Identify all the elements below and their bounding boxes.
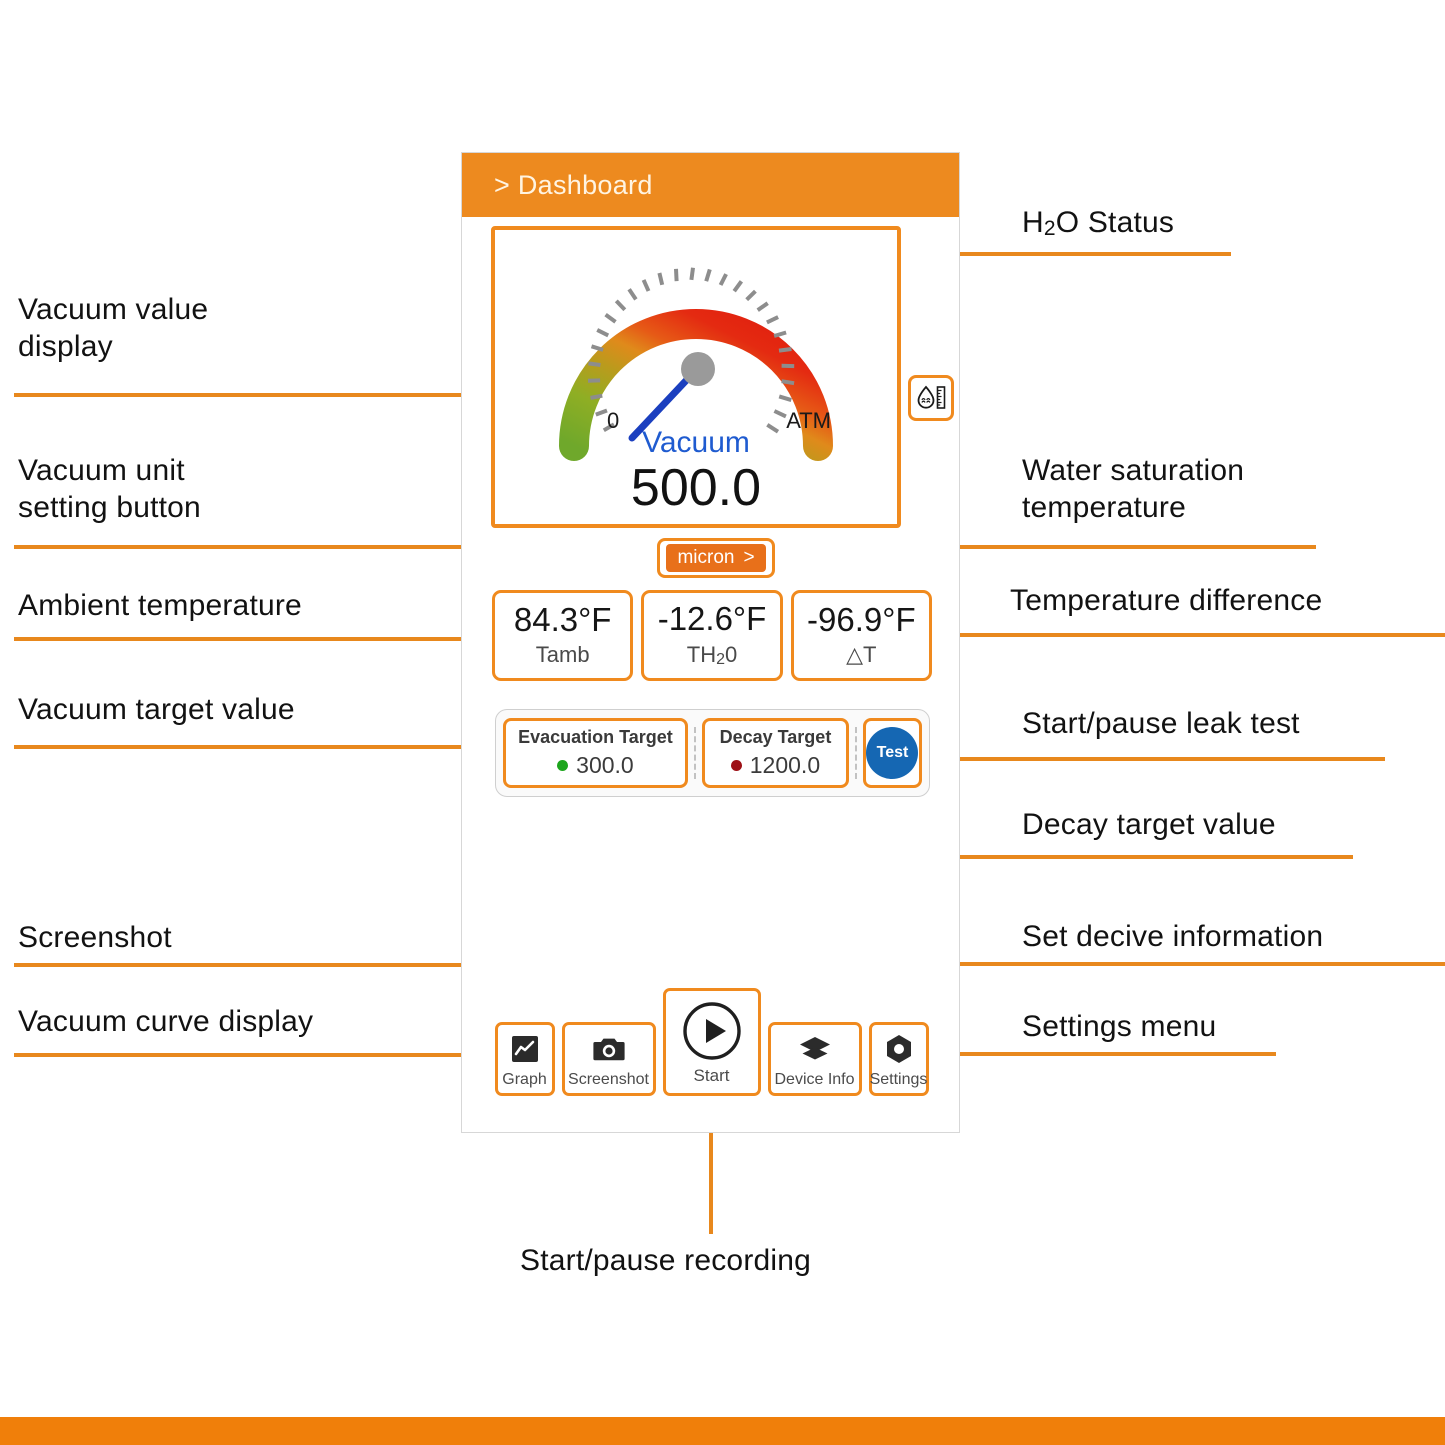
temp-value: 84.3°F — [514, 603, 612, 638]
annotation-line-1: Start/pause recording — [520, 1243, 1020, 1280]
annotation-line-2: setting button — [18, 490, 438, 527]
annotation-start-pause-leak-test: Start/pause leak test — [1022, 706, 1442, 743]
leak-test-cell[interactable]: Test — [863, 718, 922, 788]
temp-key: △T — [846, 642, 876, 668]
callout-rule-settings-menu — [946, 1052, 1276, 1056]
status-dot-green — [557, 760, 568, 771]
camera-icon — [593, 1036, 625, 1062]
annotation-line-1: Decay target value — [1022, 807, 1442, 844]
annotation-decay-target-value: Decay target value — [1022, 807, 1442, 844]
gauge-hub — [681, 352, 715, 386]
targets-row: Evacuation Target 300.0 Decay Target 120… — [495, 709, 930, 797]
ambient-temperature-cell[interactable]: 84.3°F Tamb — [492, 590, 633, 681]
toolbar-item-start[interactable]: Start — [663, 988, 761, 1096]
temp-value: -12.6°F — [658, 602, 767, 637]
test-button[interactable]: Test — [866, 727, 918, 779]
evacuation-target-value-row: 300.0 — [557, 752, 634, 779]
divider — [855, 727, 857, 779]
toolbar-label: Device Info — [774, 1071, 854, 1089]
toolbar-label: Screenshot — [568, 1071, 649, 1089]
evacuation-target-cell[interactable]: Evacuation Target 300.0 — [503, 718, 688, 788]
unit-button-inner[interactable]: micron > — [666, 544, 766, 572]
annotation-line-1: Vacuum curve display — [18, 1004, 488, 1041]
device-frame: > Dashboard — [461, 152, 960, 1133]
temp-value: -96.9°F — [807, 603, 916, 638]
toolbar-label: Settings — [870, 1071, 928, 1089]
decay-target-value: 1200.0 — [750, 752, 820, 779]
annotation-water-saturation-temperature: Water saturation temperature — [1022, 453, 1422, 526]
temperature-difference-cell[interactable]: -96.9°F △T — [791, 590, 932, 681]
callout-rule-leak-test — [928, 757, 1385, 761]
annotation-temperature-difference: Temperature difference — [1010, 583, 1445, 620]
annotation-line-1: Temperature difference — [1010, 583, 1445, 620]
decay-target-cell[interactable]: Decay Target 1200.0 — [702, 718, 849, 788]
callout-rule-vacuum-curve — [14, 1053, 490, 1057]
icon-slot — [885, 1031, 913, 1067]
temp-key-sub: 2 — [716, 651, 725, 668]
annotation-screenshot: Screenshot — [18, 920, 488, 957]
annotation-settings-menu: Settings menu — [1022, 1009, 1442, 1046]
breadcrumb[interactable]: > Dashboard — [494, 170, 653, 201]
decay-target-title: Decay Target — [720, 727, 832, 748]
annotation-line-1: Vacuum target value — [18, 692, 488, 729]
toolbar-item-graph[interactable]: Graph — [495, 1022, 555, 1096]
icon-slot — [799, 1031, 831, 1067]
play-circle-icon — [681, 1000, 743, 1062]
annotation-start-pause-recording: Start/pause recording — [520, 1243, 1020, 1280]
annotation-line-1: Vacuum value — [18, 292, 438, 329]
annotation-ambient-temperature: Ambient temperature — [18, 588, 488, 625]
annotation-line-1: Settings menu — [1022, 1009, 1442, 1046]
unit-label: micron — [677, 547, 734, 569]
water-saturation-temperature-cell[interactable]: -12.6°F TH20 — [641, 590, 782, 681]
temp-key-tail: 0 — [725, 642, 737, 667]
subscript-2: 2 — [1044, 217, 1056, 240]
temp-key-main: TH — [687, 642, 716, 667]
decay-target-value-row: 1200.0 — [731, 752, 820, 779]
temperature-row: 84.3°F Tamb -12.6°F TH20 -96.9°F △T — [492, 590, 932, 681]
annotation-line-1: Water saturation — [1022, 453, 1422, 490]
temp-key: Tamb — [536, 642, 590, 668]
callout-rule-vacuum-target — [14, 745, 503, 749]
water-drop-thermometer-icon — [915, 384, 947, 412]
chevron-right-icon: > — [743, 547, 754, 569]
annotation-line-1: Screenshot — [18, 920, 488, 957]
annotation-vacuum-curve-display: Vacuum curve display — [18, 1004, 488, 1041]
annotation-vacuum-target-value: Vacuum target value — [18, 692, 488, 729]
icon-slot — [511, 1031, 539, 1067]
annotation-line-1: Set decive information — [1022, 919, 1445, 956]
callout-rule-temp-difference — [934, 633, 1445, 637]
temp-key: TH20 — [687, 642, 737, 669]
vacuum-value-readout: 500.0 — [495, 458, 897, 518]
brand-bar — [0, 1417, 1445, 1445]
layers-icon — [799, 1035, 831, 1063]
icon-slot — [593, 1031, 625, 1067]
icon-slot — [681, 1000, 743, 1062]
annotation-set-device-information: Set decive information — [1022, 919, 1445, 956]
toolbar-item-device-info[interactable]: Device Info — [768, 1022, 862, 1096]
annotation-line-2: temperature — [1022, 490, 1422, 527]
annotation-line-1: Vacuum unit — [18, 453, 438, 490]
toolbar-label: Start — [694, 1066, 730, 1086]
h2o-status-button[interactable] — [908, 375, 954, 421]
callout-rule-ambient-temp — [14, 637, 520, 641]
annotation-line-2: display — [18, 329, 438, 366]
page-root: Vacuum value display Vacuum unit setting… — [0, 0, 1445, 1445]
bottom-toolbar: Graph Screenshot — [480, 1000, 943, 1096]
annotation-h2o-status: H2O Status — [1022, 205, 1422, 242]
annotation-line-1: Ambient temperature — [18, 588, 488, 625]
divider — [694, 727, 696, 779]
annotation-line-1: Start/pause leak test — [1022, 706, 1442, 743]
callout-rule-vacuum-value — [14, 393, 481, 397]
annotation-vacuum-value-display: Vacuum value display — [18, 292, 438, 365]
toolbar-item-settings[interactable]: Settings — [869, 1022, 929, 1096]
graph-chart-icon — [511, 1035, 539, 1063]
annotation-line-1: H2O Status — [1022, 205, 1422, 242]
device-header: > Dashboard — [462, 153, 959, 217]
annotation-vacuum-unit-setting-button: Vacuum unit setting button — [18, 453, 438, 526]
callout-rule-h2o-status — [946, 252, 1231, 256]
evacuation-target-value: 300.0 — [576, 752, 634, 779]
toolbar-label: Graph — [502, 1071, 546, 1089]
gear-hex-nut-icon — [885, 1034, 913, 1064]
vacuum-gauge-card[interactable]: 0 ATM Vacuum 500.0 — [491, 226, 901, 528]
toolbar-item-screenshot[interactable]: Screenshot — [562, 1022, 656, 1096]
vacuum-unit-setting-button[interactable]: micron > — [657, 538, 775, 578]
gauge-title: Vacuum — [495, 426, 897, 460]
status-dot-red — [731, 760, 742, 771]
evacuation-target-title: Evacuation Target — [518, 727, 673, 748]
